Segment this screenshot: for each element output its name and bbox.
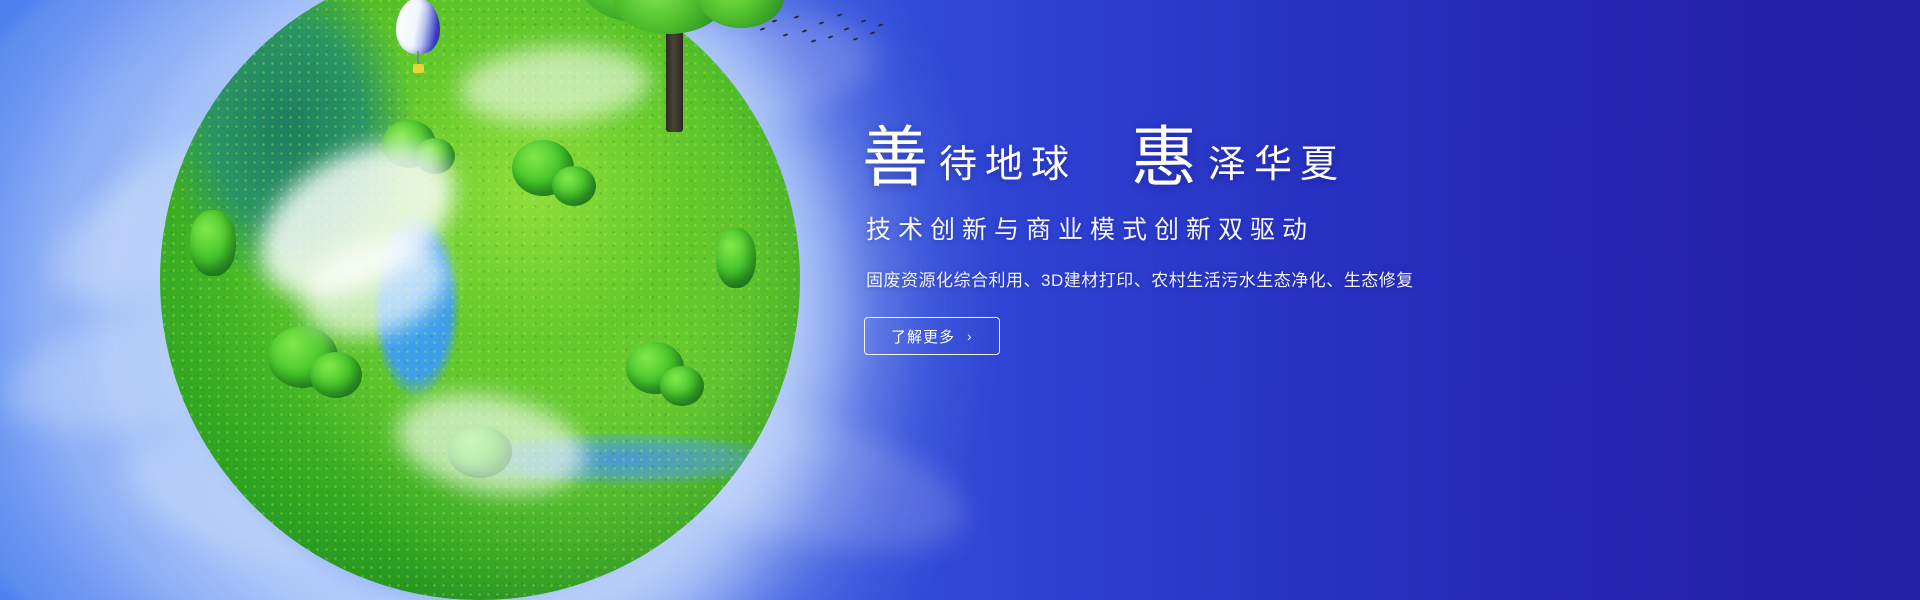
- hot-air-balloon-icon: [396, 0, 444, 82]
- tree-clump: [190, 210, 236, 276]
- planet-illustration: [160, 0, 800, 600]
- chevron-right-icon: ›: [967, 328, 973, 344]
- learn-more-label: 了解更多: [891, 326, 955, 347]
- tree-clump: [552, 166, 596, 206]
- hero-banner: 善 待地球 惠 泽华夏 技术创新与商业模式创新双驱动 固废资源化综合利用、3D建…: [0, 0, 1920, 600]
- balloon-envelope: [396, 0, 440, 54]
- tree-clump: [716, 228, 756, 288]
- headline-accent-1: 善: [862, 126, 929, 192]
- headline-accent-2: 惠: [1131, 126, 1198, 192]
- headline-text-1: 待地球: [929, 146, 1077, 192]
- banner-content: 善 待地球 惠 泽华夏 技术创新与商业模式创新双驱动 固废资源化综合利用、3D建…: [862, 126, 1682, 355]
- bird-flock-icon: [756, 10, 886, 54]
- balloon-basket: [413, 64, 424, 73]
- banner-subtitle: 技术创新与商业模式创新双驱动: [866, 210, 1682, 246]
- banner-description: 固废资源化综合利用、3D建材打印、农村生活污水生态净化、生态修复: [866, 266, 1682, 291]
- tree-clump: [660, 366, 704, 406]
- balloon-rope: [417, 51, 419, 65]
- headline: 善 待地球 惠 泽华夏: [862, 126, 1682, 192]
- tree-clump: [310, 352, 362, 398]
- learn-more-button[interactable]: 了解更多 ›: [864, 317, 1000, 355]
- headline-text-2: 泽华夏: [1198, 146, 1346, 192]
